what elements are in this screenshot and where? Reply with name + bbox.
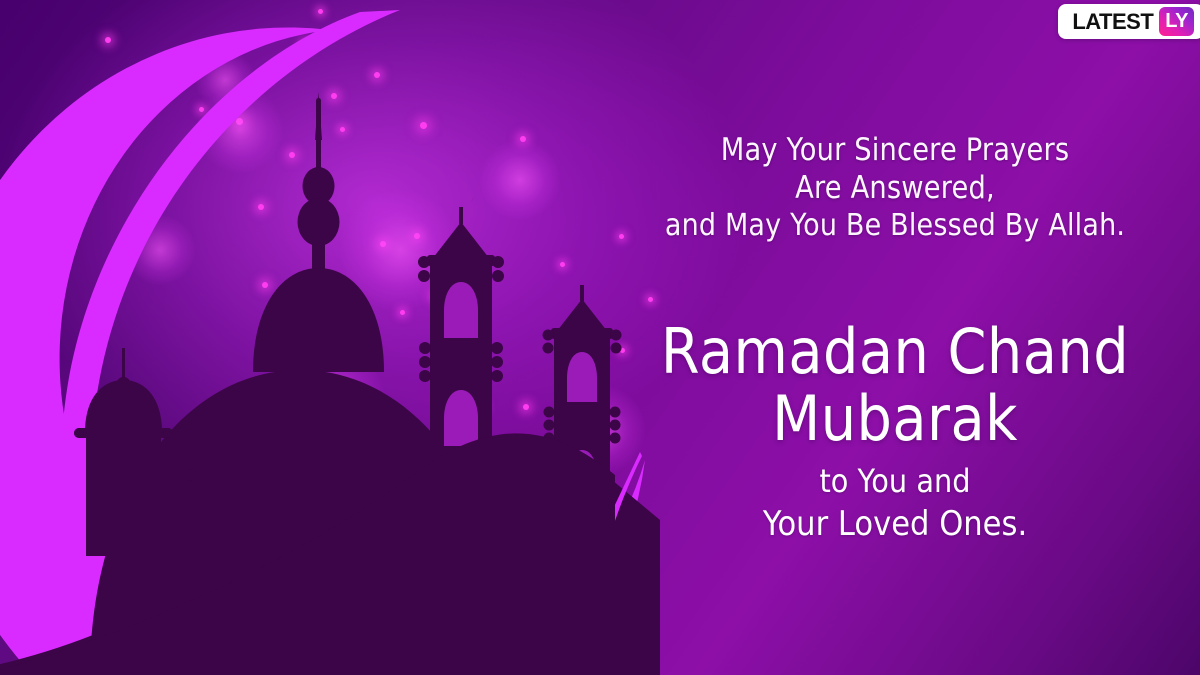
logo-wordmark: LATEST: [1072, 11, 1153, 33]
star-dot: [523, 404, 529, 410]
star-dot: [199, 107, 204, 112]
star-dot: [318, 9, 323, 14]
greeting-line-2: Are Answered,: [627, 170, 1164, 208]
star-dot: [209, 445, 214, 450]
minaret-left-icon: [418, 180, 504, 494]
headline-line-2: Mubarak: [621, 389, 1170, 450]
star-dot: [262, 282, 268, 288]
star-dot: [303, 41, 309, 47]
star-dot: [448, 272, 454, 278]
star-dot: [418, 539, 424, 545]
headline-line-1: Ramadan Chand: [621, 322, 1170, 383]
bokeh-glow: [340, 190, 460, 310]
bokeh-glow: [275, 345, 385, 455]
star-dot: [520, 136, 526, 142]
closing-line-2: Your Loved Ones.: [621, 504, 1170, 545]
minaret-left-windows: [444, 282, 478, 512]
star-dot: [258, 204, 264, 210]
star-dot: [236, 118, 243, 125]
small-block-icon: [185, 469, 224, 562]
latestly-logo[interactable]: LATEST LY: [1058, 4, 1200, 39]
bokeh-glow: [125, 215, 195, 285]
bokeh-glow: [435, 435, 505, 505]
star-dot: [367, 404, 373, 410]
star-dot: [380, 241, 386, 247]
bokeh-glow: [480, 140, 560, 220]
closing-line-1: to You and: [621, 462, 1170, 500]
star-dot: [340, 127, 345, 132]
greeting-text-column: May Your Sincere Prayers Are Answered, a…: [590, 0, 1200, 675]
star-dot: [420, 122, 427, 129]
mosque-base-mass: [0, 370, 660, 675]
greeting-block: May Your Sincere Prayers Are Answered, a…: [590, 132, 1200, 244]
greeting-card: May Your Sincere Prayers Are Answered, a…: [0, 0, 1200, 675]
star-dot: [400, 310, 405, 315]
mosque-foreground-mass: [0, 433, 615, 675]
crescent-moon-shape: [0, 27, 645, 675]
mosque-spire-icon: [253, 92, 384, 372]
star-dot: [300, 338, 306, 344]
star-dot: [414, 233, 420, 239]
closing-block: to You and Your Loved Ones.: [590, 462, 1200, 545]
star-dot: [331, 93, 337, 99]
star-dot: [515, 446, 522, 453]
greeting-line-1: May Your Sincere Prayers: [627, 132, 1164, 170]
star-dot: [105, 37, 111, 43]
star-dot: [478, 404, 484, 410]
star-dot: [471, 351, 477, 357]
star-dot: [289, 152, 295, 158]
bokeh-glow: [197, 87, 283, 173]
bokeh-glow: [195, 50, 255, 110]
greeting-line-3: and May You Be Blessed By Allah.: [621, 208, 1170, 245]
star-dot: [545, 490, 551, 496]
headline-block: Ramadan Chand Mubarak: [590, 322, 1200, 450]
small-dome-icon: [484, 440, 551, 540]
star-dot: [374, 72, 380, 78]
star-dot: [560, 262, 565, 267]
side-tower-icon: [74, 348, 173, 556]
logo-ly-badge: LY: [1159, 7, 1194, 36]
star-dot: [432, 293, 438, 299]
star-dot: [467, 452, 473, 458]
